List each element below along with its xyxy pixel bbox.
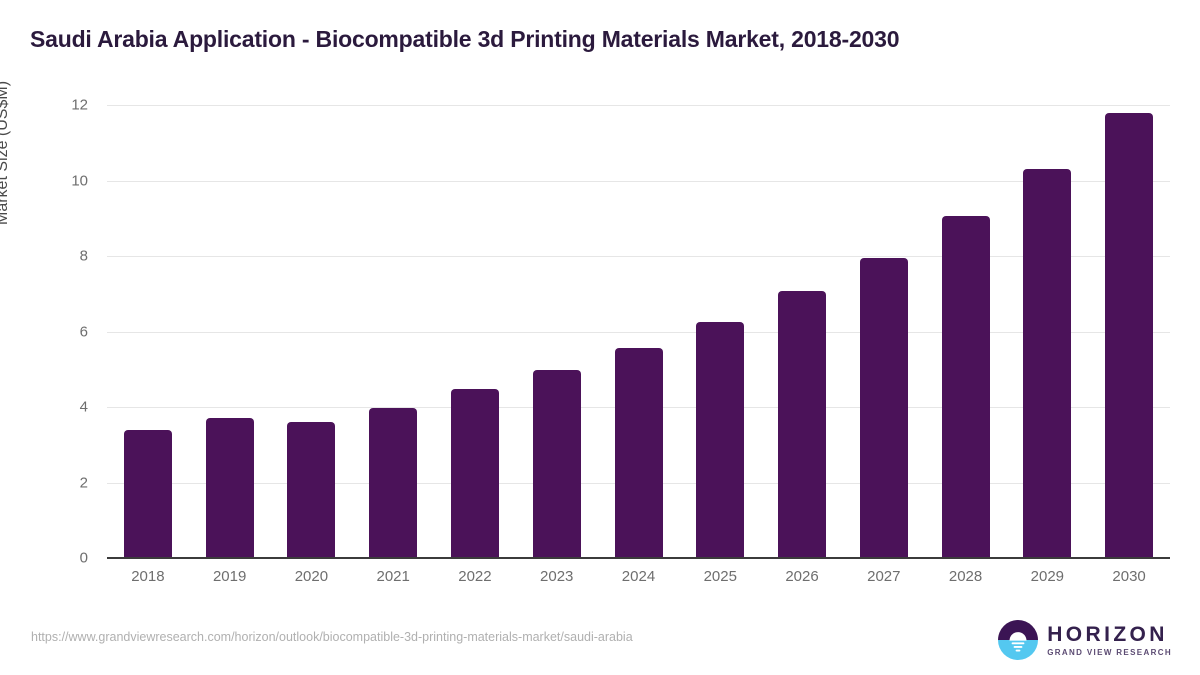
bar[interactable] xyxy=(860,258,908,558)
chart-screenshot: Saudi Arabia Application - Biocompatible… xyxy=(0,0,1200,675)
plot-area xyxy=(107,105,1170,558)
bar[interactable] xyxy=(942,216,990,558)
x-axis-tick-label: 2027 xyxy=(843,568,925,585)
logo-tagline: GRAND VIEW RESEARCH xyxy=(1047,649,1172,657)
x-axis-tick-label: 2029 xyxy=(1006,568,1088,585)
bar[interactable] xyxy=(778,291,826,558)
bar[interactable] xyxy=(615,348,663,558)
chart-container: Market Size (US$M) 024681012 20182019202… xyxy=(0,0,1200,675)
x-axis-tick-label: 2025 xyxy=(679,568,761,585)
horizon-logo[interactable]: HORIZON GRAND VIEW RESEARCH xyxy=(998,618,1172,662)
bar[interactable] xyxy=(1105,113,1153,558)
y-axis-tick-label: 2 xyxy=(28,474,88,491)
x-axis-tick-label: 2020 xyxy=(271,568,353,585)
y-axis-tick-label: 10 xyxy=(28,172,88,189)
x-axis-tick-label: 2028 xyxy=(925,568,1007,585)
y-axis-tick-label: 8 xyxy=(28,248,88,265)
bar[interactable] xyxy=(533,370,581,558)
gridline xyxy=(107,332,1170,333)
x-axis-tick-label: 2018 xyxy=(107,568,189,585)
logo-text: HORIZON GRAND VIEW RESEARCH xyxy=(1047,624,1172,657)
x-axis-tick-label: 2022 xyxy=(434,568,516,585)
bar[interactable] xyxy=(369,408,417,558)
x-axis-tick-label: 2023 xyxy=(516,568,598,585)
bar[interactable] xyxy=(206,418,254,558)
x-axis-tick-label: 2024 xyxy=(598,568,680,585)
gridline xyxy=(107,256,1170,257)
y-axis-tick-label: 12 xyxy=(28,97,88,114)
x-axis-tick-label: 2019 xyxy=(189,568,271,585)
logo-wordmark: HORIZON xyxy=(1047,624,1172,645)
source-url[interactable]: https://www.grandviewresearch.com/horizo… xyxy=(31,630,633,644)
y-axis-tick-label: 0 xyxy=(28,550,88,567)
x-axis-tick-label: 2021 xyxy=(352,568,434,585)
y-axis-tick-label: 6 xyxy=(28,323,88,340)
bar[interactable] xyxy=(1023,169,1071,558)
x-axis-line xyxy=(107,557,1170,559)
bar[interactable] xyxy=(287,422,335,558)
horizon-sun-icon xyxy=(998,620,1038,660)
gridline xyxy=(107,181,1170,182)
gridline xyxy=(107,105,1170,106)
bar[interactable] xyxy=(696,322,744,558)
x-axis-tick-label: 2026 xyxy=(761,568,843,585)
x-axis-tick-label: 2030 xyxy=(1088,568,1170,585)
y-axis-title: Market Size (US$M) xyxy=(0,81,12,225)
bar[interactable] xyxy=(451,389,499,558)
bar[interactable] xyxy=(124,430,172,558)
y-axis-tick-label: 4 xyxy=(28,399,88,416)
